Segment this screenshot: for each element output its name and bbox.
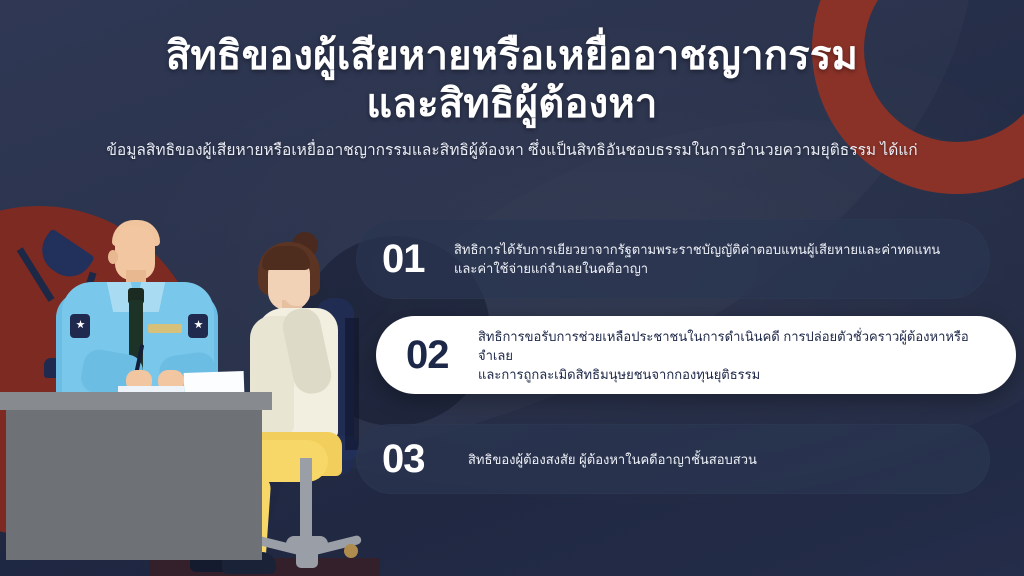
- office-chair-caster: [344, 544, 358, 558]
- woman-hand-covering-face: [284, 272, 310, 306]
- list-item-text-line-2: และค่าใช้จ่ายแก่จำเลยในคดีอาญา: [454, 259, 940, 278]
- desk-front-panel: [6, 410, 262, 560]
- list-item-02[interactable]: 02 สิทธิการขอรับการช่วยเหลือประชาชนในการ…: [376, 316, 1016, 394]
- list-item-number: 01: [382, 239, 454, 279]
- illustration-scene: [0, 196, 372, 576]
- list-item-text-line-1: สิทธิการได้รับการเยียวยาจากรัฐตามพระราชบ…: [454, 240, 940, 259]
- list-item-text-line-1: สิทธิการขอรับการช่วยเหลือประชาชนในการดำเ…: [478, 327, 990, 365]
- officer-ear: [108, 250, 118, 264]
- list-item-03[interactable]: 03 สิทธิของผู้ต้องสงสัย ผู้ต้องหาในคดีอา…: [356, 424, 990, 494]
- list-item-text-line-1: สิทธิของผู้ต้องสงสัย ผู้ต้องหาในคดีอาญาช…: [468, 450, 757, 469]
- page-title-line-1: สิทธิของผู้เสียหายหรือเหยื่ออาชญากรรม: [166, 34, 858, 78]
- officer-name-badge: [148, 324, 182, 333]
- list-item-text: สิทธิของผู้ต้องสงสัย ผู้ต้องหาในคดีอาญาช…: [468, 450, 757, 469]
- woman-hair-front: [262, 246, 310, 270]
- page-subtitle: ข้อมูลสิทธิของผู้เสียหายหรือเหยื่ออาชญาก…: [0, 140, 1024, 162]
- office-chair-base-hub: [286, 536, 328, 552]
- page-title-line-2: และสิทธิผู้ต้องหา: [0, 80, 1024, 128]
- list-item-text: สิทธิการขอรับการช่วยเหลือประชาชนในการดำเ…: [478, 327, 990, 384]
- list-item-01[interactable]: 01 สิทธิการได้รับการเยียวยาจากรัฐตามพระร…: [356, 219, 990, 299]
- list-item-text-line-2: และการถูกละเมิดสิทธิมนุษยชนจากกองทุนยุติ…: [478, 365, 990, 384]
- desk-surface: [0, 392, 272, 410]
- header: สิทธิของผู้เสียหายหรือเหยื่ออาชญากรรม แล…: [0, 0, 1024, 162]
- office-chair-post: [300, 458, 312, 544]
- list-item-number: 03: [382, 439, 468, 479]
- list-item-text: สิทธิการได้รับการเยียวยาจากรัฐตามพระราชบ…: [454, 240, 940, 278]
- page-title: สิทธิของผู้เสียหายหรือเหยื่ออาชญากรรม แล…: [0, 0, 1024, 128]
- rights-list: 01 สิทธิการได้รับการเยียวยาจากรัฐตามพระร…: [356, 219, 1016, 494]
- list-item-number: 02: [406, 335, 478, 375]
- infographic-slide: สิทธิของผู้เสียหายหรือเหยื่ออาชญากรรม แล…: [0, 0, 1024, 576]
